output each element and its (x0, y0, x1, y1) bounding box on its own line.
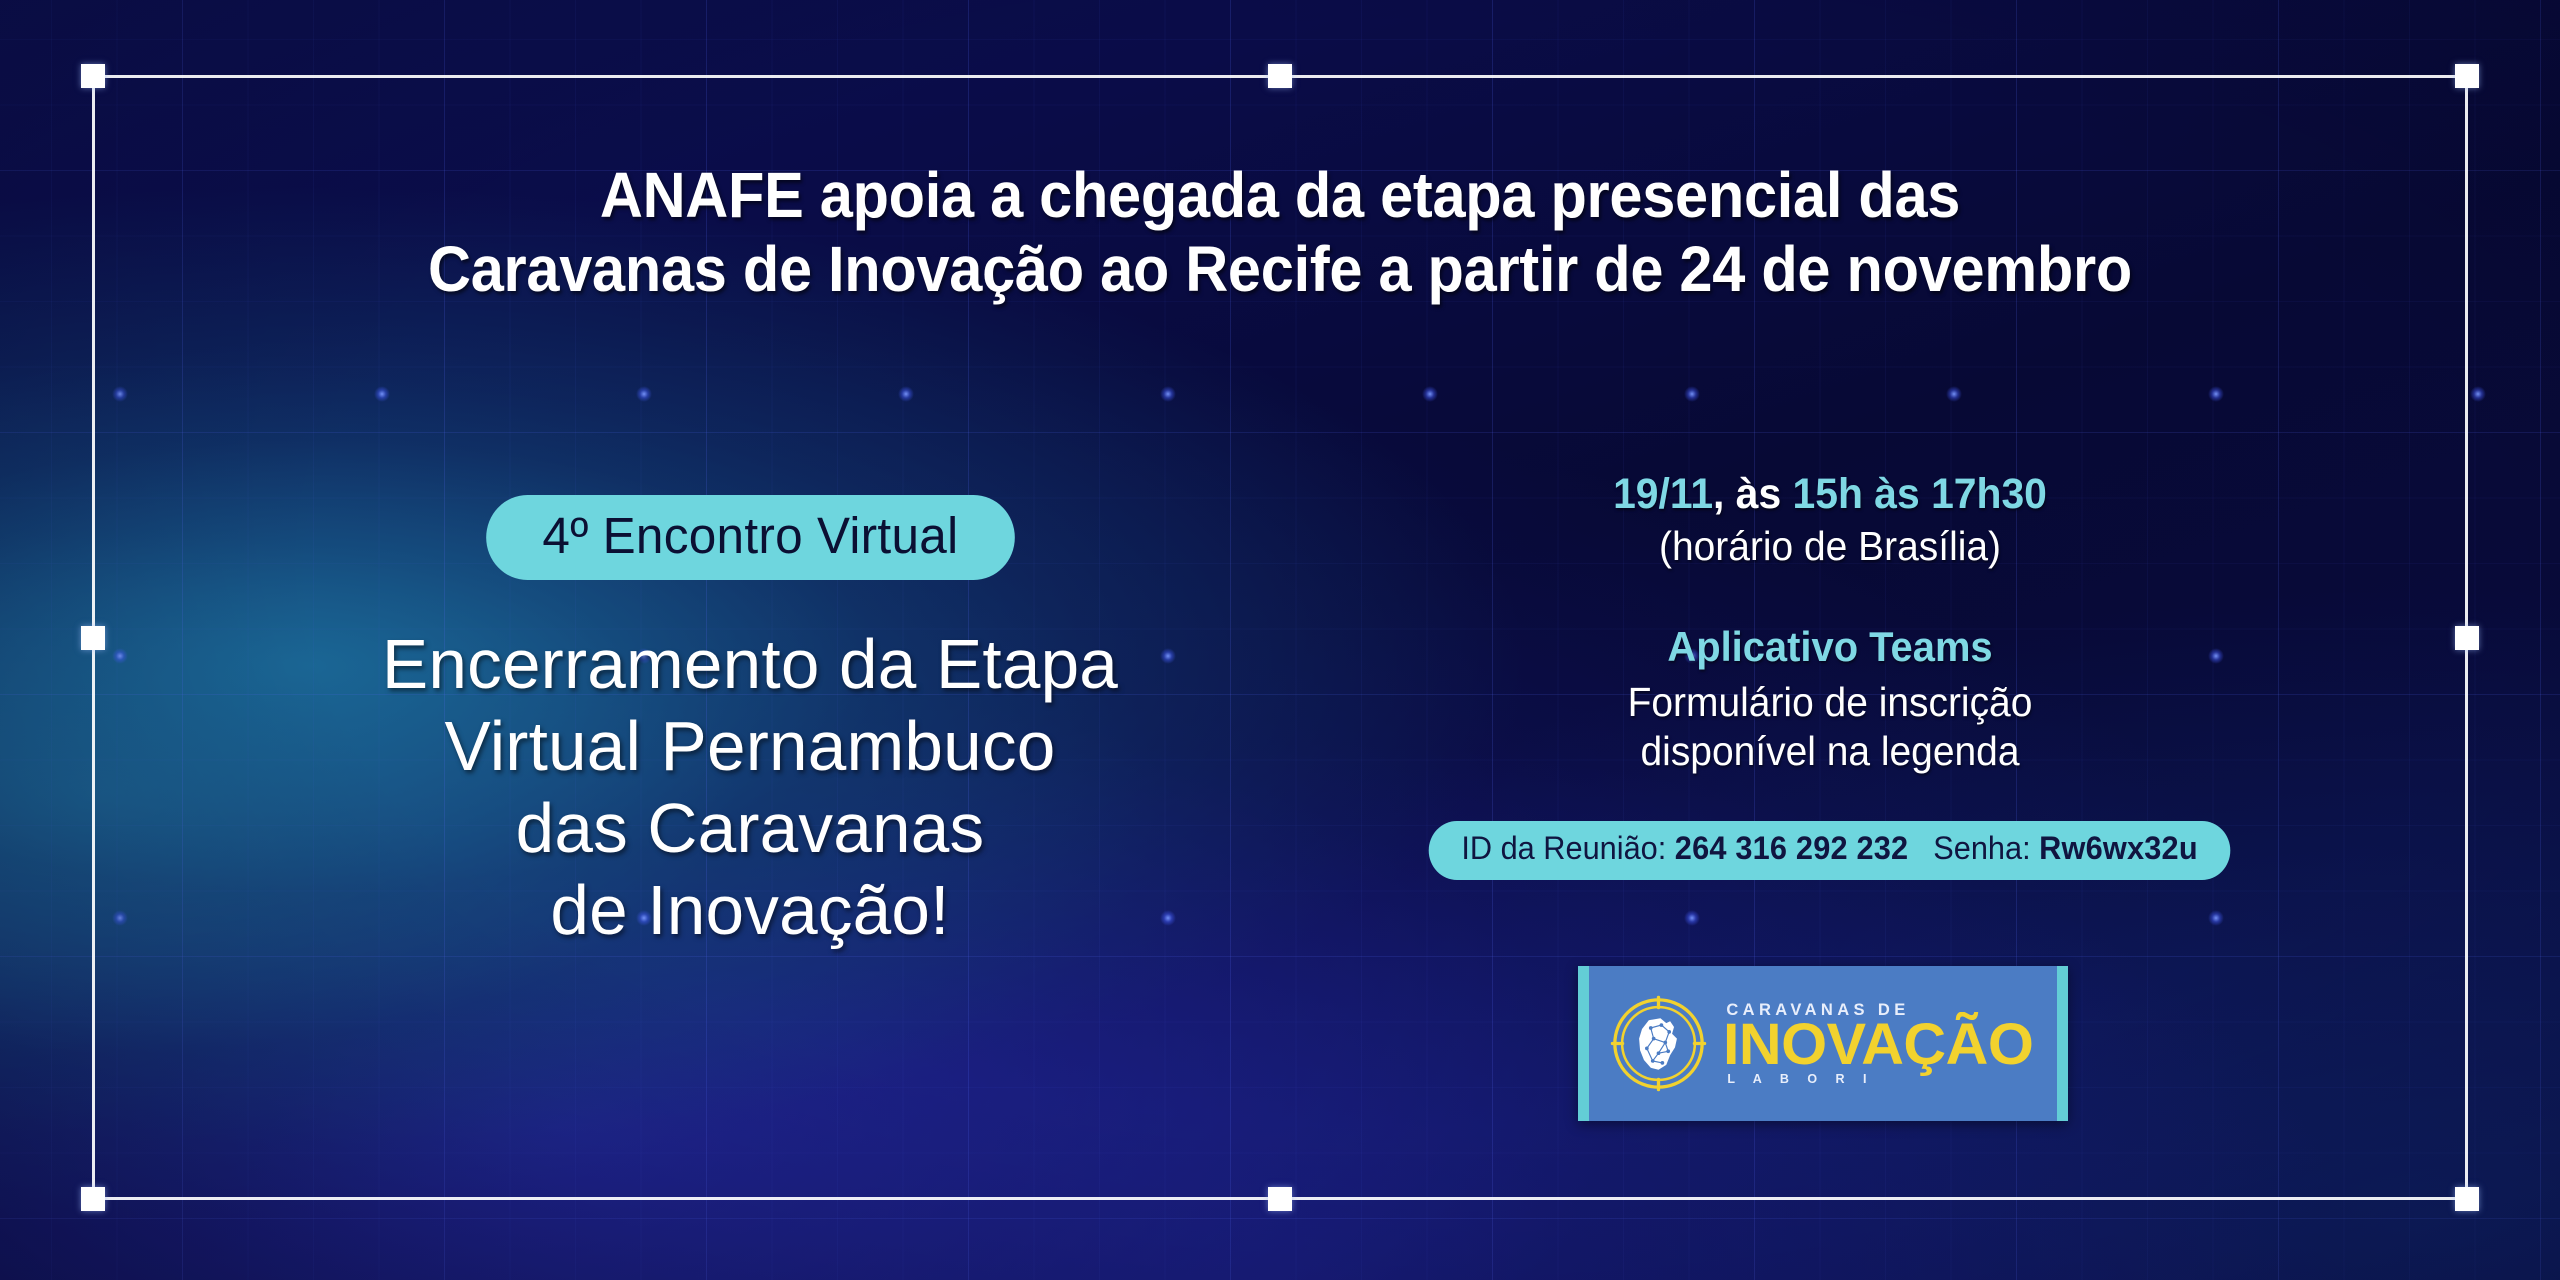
right-column: 19/11, às 15h às 17h30 (horário de Brasí… (1380, 470, 2280, 880)
event-datetime: 19/11, às 15h às 17h30 (1403, 470, 2258, 518)
event-date: 19/11 (1613, 470, 1713, 518)
meeting-id-label: ID da Reunião: (1462, 830, 1667, 866)
registration-note-line-1: Formulário de inscrição (1403, 678, 2258, 727)
caravanas-inovacao-logo: CARAVANAS DE INOVAÇÃO L A B O R I (1578, 966, 2068, 1121)
password-value: Rw6wx32u (2040, 830, 2199, 866)
meeting-credentials-pill[interactable]: ID da Reunião: 264 316 292 232Senha: Rw6… (1429, 821, 2231, 880)
event-title-line-4: de Inovação! (156, 870, 1344, 952)
poster-canvas: ANAFE apoia a chegada da etapa presencia… (0, 0, 2560, 1280)
event-title: Encerramento da Etapa Virtual Pernambuco… (156, 624, 1344, 952)
left-column: 4º Encontro Virtual Encerramento da Etap… (150, 495, 1350, 952)
logo-accent-bar-left (1578, 966, 1589, 1121)
registration-note-line-2: disponível na legenda (1403, 727, 2258, 776)
encounter-badge: 4º Encontro Virtual (486, 495, 1014, 580)
headline-line-1: ANAFE apoia a chegada da etapa presencia… (173, 158, 2386, 232)
headline: ANAFE apoia a chegada da etapa presencia… (90, 158, 2471, 306)
password-label: Senha: (1934, 830, 2031, 866)
headline-line-2: Caravanas de Inovação ao Recife a partir… (173, 232, 2386, 306)
event-time: 15h às 17h30 (1793, 470, 2047, 518)
logo-accent-bar-right (2057, 966, 2068, 1121)
brazil-map-emblem-icon (1610, 995, 1707, 1092)
registration-note: Formulário de inscrição disponível na le… (1403, 678, 2258, 776)
meeting-id-value: 264 316 292 232 (1675, 830, 1909, 866)
event-date-separator: , às (1713, 470, 1792, 518)
event-timezone: (horário de Brasília) (1403, 523, 2258, 570)
logo-main-text: INOVAÇÃO (1723, 1020, 2033, 1070)
event-title-line-1: Encerramento da Etapa (156, 624, 1344, 706)
event-title-line-2: Virtual Pernambuco (156, 706, 1344, 788)
meeting-app: Aplicativo Teams (1403, 623, 2258, 671)
event-title-line-3: das Caravanas (156, 788, 1344, 870)
